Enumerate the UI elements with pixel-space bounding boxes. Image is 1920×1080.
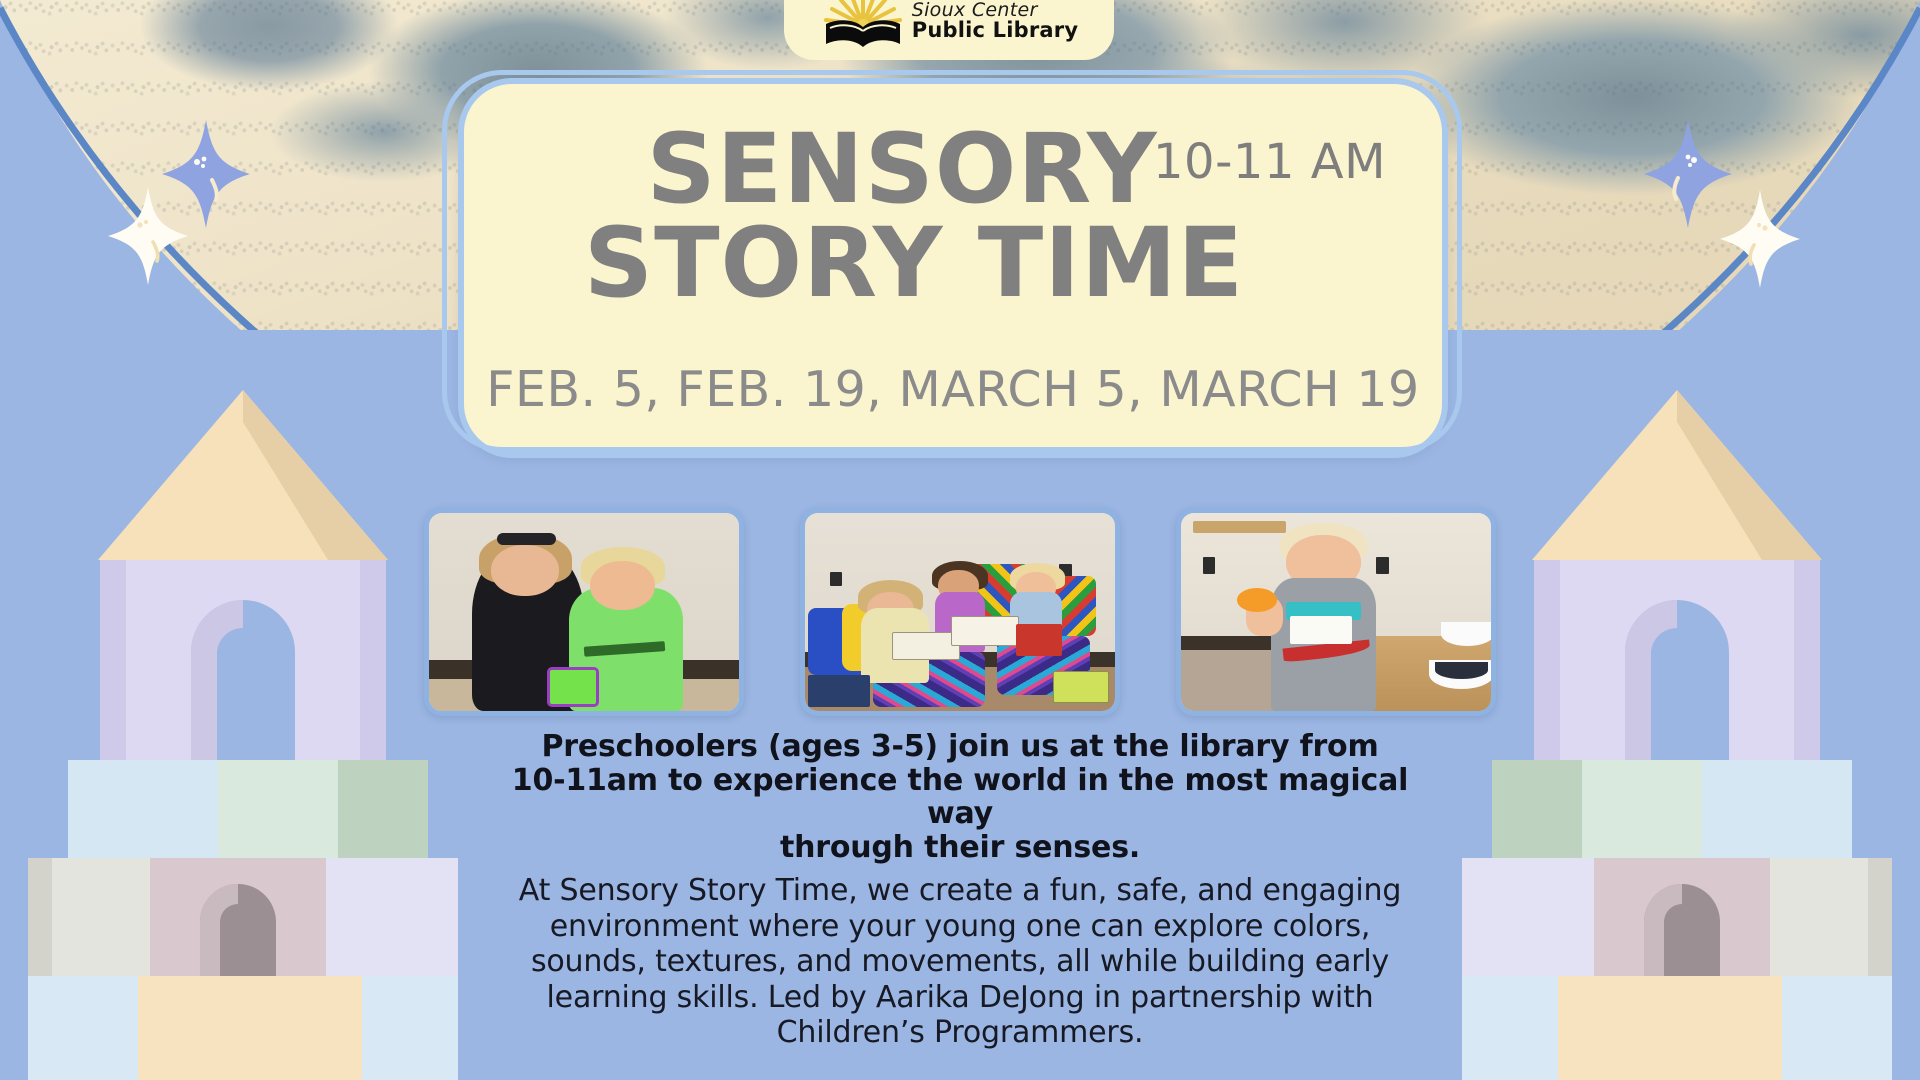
detail-line-1: At Sensory Story Time, we create a fun, … <box>500 873 1420 908</box>
detail-line-3: sounds, textures, and movements, all whi… <box>500 944 1420 979</box>
photo-toddler-at-table <box>1176 508 1496 716</box>
event-title-line-2: STORY TIME <box>482 216 1322 310</box>
poster-canvas: Sioux Center Public Library SENSORY STOR… <box>0 0 1920 1080</box>
lead-paragraph: Preschoolers (ages 3-5) join us at the l… <box>500 730 1420 864</box>
event-time: 10-11 AM <box>1153 134 1386 190</box>
logo-line-1: Sioux Center <box>912 1 1079 20</box>
detail-line-5: Children’s Programmers. <box>500 1015 1420 1050</box>
photo-gallery <box>0 508 1920 716</box>
sparkle-star-white-left <box>106 185 190 287</box>
library-logo-badge: Sioux Center Public Library <box>784 0 1114 60</box>
detail-paragraph: At Sensory Story Time, we create a fun, … <box>500 873 1420 1050</box>
sparkle-star-white-right <box>1718 188 1802 290</box>
detail-line-2: environment where your young one can exp… <box>500 909 1420 944</box>
title-card: SENSORY STORY TIME 10-11 AM FEB. 5, FEB.… <box>458 78 1448 458</box>
lead-line-2: 10-11am to experience the world in the m… <box>500 764 1420 831</box>
sunburst-over-open-book-icon <box>820 0 906 54</box>
block-tower-left <box>28 380 458 1080</box>
event-dates: FEB. 5, FEB. 19, MARCH 5, MARCH 19 <box>464 361 1442 418</box>
lead-line-1: Preschoolers (ages 3-5) join us at the l… <box>500 730 1420 764</box>
photo-children-reading <box>800 508 1120 716</box>
lead-line-3: through their senses. <box>500 831 1420 865</box>
detail-line-4: learning skills. Led by Aarika DeJong in… <box>500 980 1420 1015</box>
photo-adult-and-boy <box>424 508 744 716</box>
description-block: Preschoolers (ages 3-5) join us at the l… <box>500 730 1420 1050</box>
logo-line-2: Public Library <box>912 20 1079 41</box>
block-tower-right <box>1462 380 1892 1080</box>
